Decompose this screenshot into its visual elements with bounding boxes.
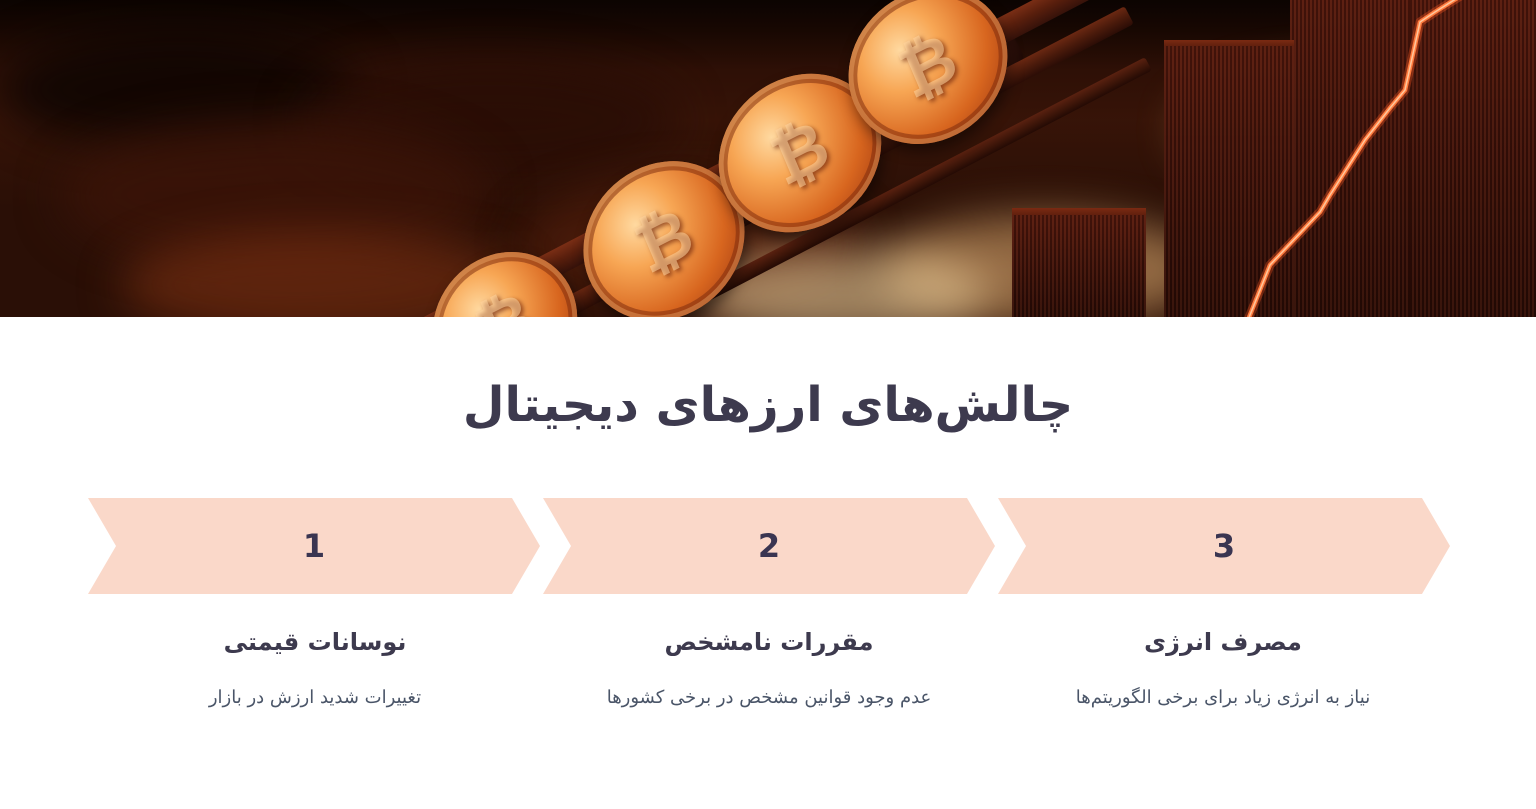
chevron-step-1-number: 1 (303, 530, 325, 562)
step-card-2-description: عدم وجود قوانین مشخص در برخی کشورها (564, 684, 974, 711)
step-card-1-description: تغییرات شدید ارزش در بازار (110, 684, 520, 711)
page-title: چالش‌های ارزهای دیجیتال (0, 377, 1536, 435)
hero-image (0, 0, 1536, 317)
chevron-step-row: 1 2 3 (88, 498, 1450, 594)
chevron-step-3-number: 3 (1213, 530, 1235, 562)
chart-bar-block (1164, 46, 1294, 317)
slide-content: چالش‌های ارزهای دیجیتال 1 2 3 نوسانات قی… (0, 317, 1536, 809)
chevron-step-2[interactable]: 2 (543, 498, 995, 594)
step-card-2-title: مقررات نامشخص (564, 627, 974, 658)
chart-bar-block (1290, 0, 1410, 317)
step-card-3: مصرف انرژی نیاز به انرژی زیاد برای برخی … (996, 627, 1450, 711)
chevron-step-1[interactable]: 1 (88, 498, 540, 594)
chevron-step-3[interactable]: 3 (998, 498, 1450, 594)
step-card-1-title: نوسانات قیمتی (110, 627, 520, 658)
step-card-1: نوسانات قیمتی تغییرات شدید ارزش در بازار (88, 627, 542, 711)
chart-bar-block (1012, 215, 1146, 317)
step-card-3-title: مصرف انرژی (1018, 627, 1428, 658)
step-card-2: مقررات نامشخص عدم وجود قوانین مشخص در بر… (542, 627, 996, 711)
chart-bar-block (1408, 0, 1536, 317)
chevron-step-2-number: 2 (758, 530, 780, 562)
step-card-3-description: نیاز به انرژی زیاد برای برخی الگوریتم‌ها (1018, 684, 1428, 711)
step-description-row: نوسانات قیمتی تغییرات شدید ارزش در بازار… (88, 627, 1450, 711)
